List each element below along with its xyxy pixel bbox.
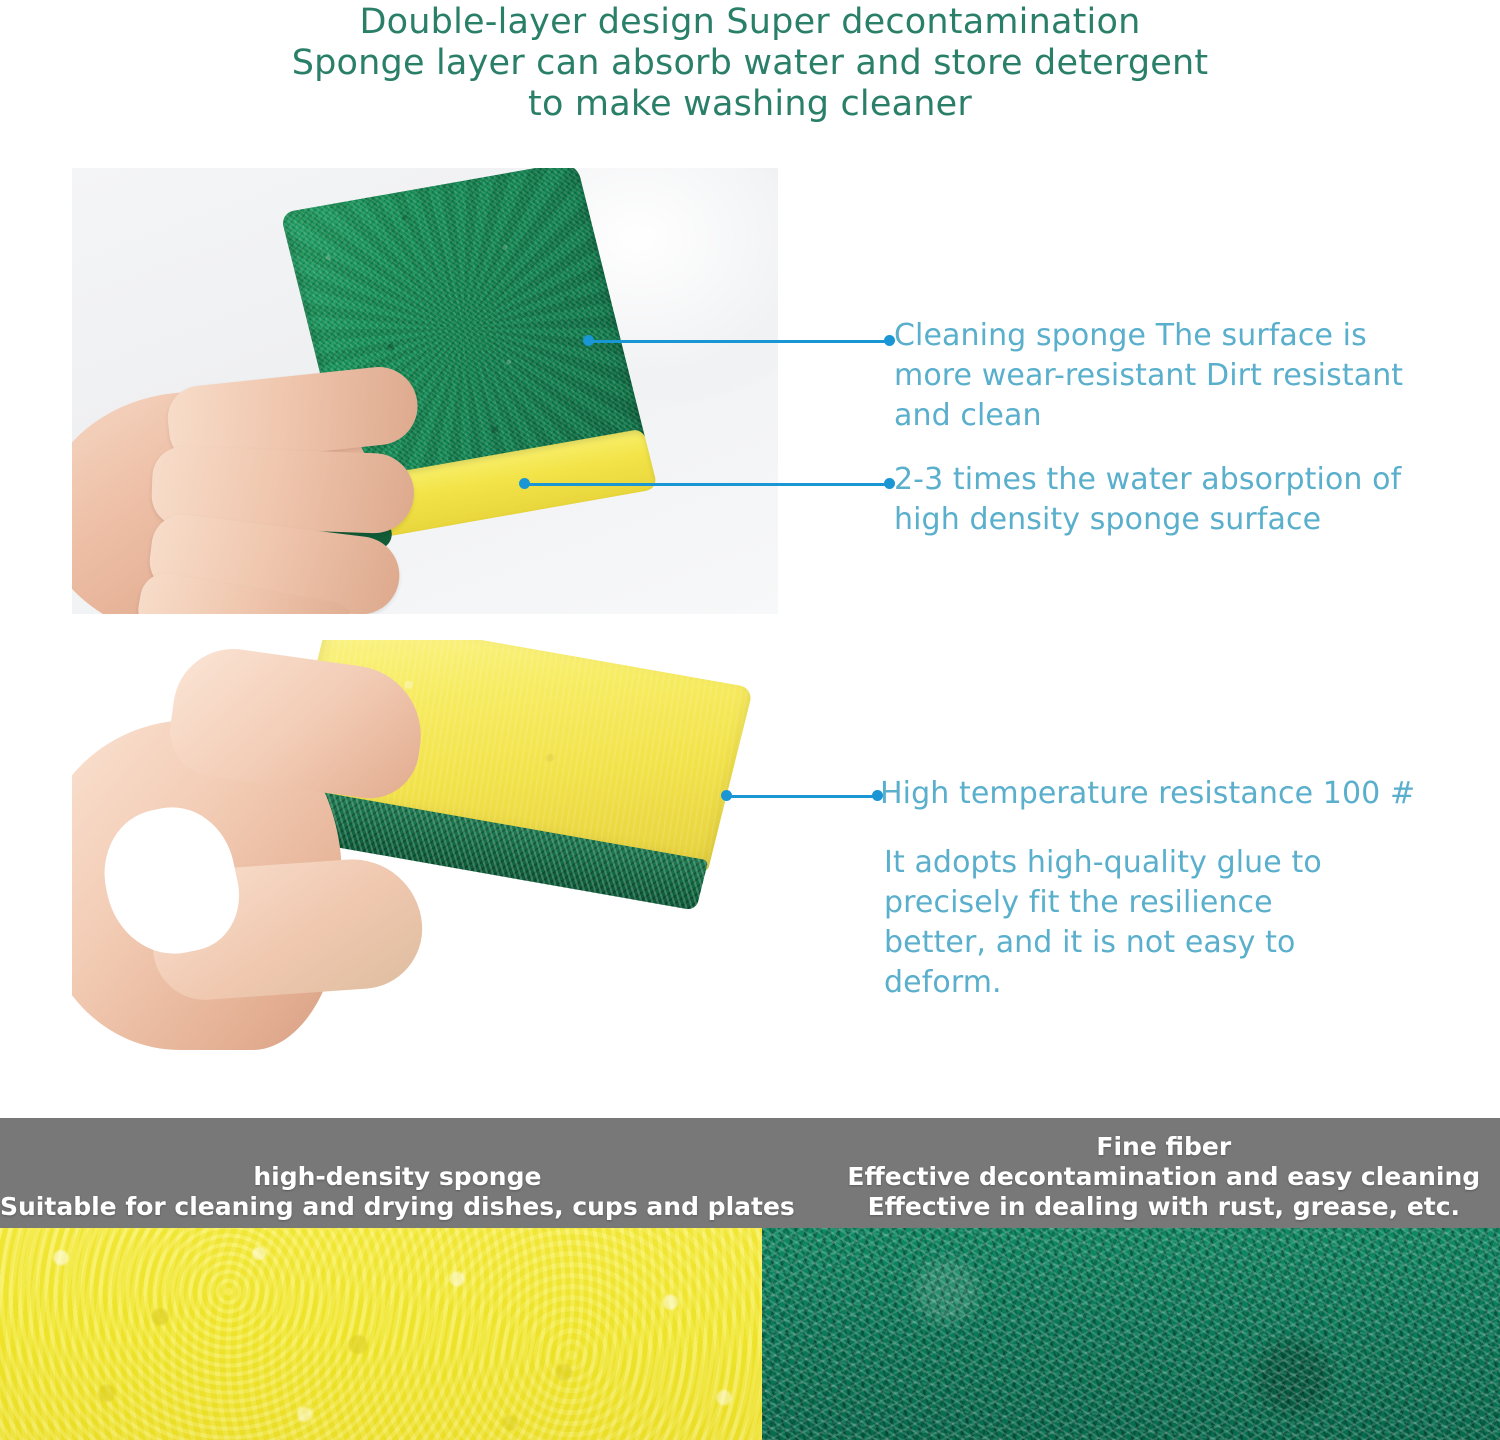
comparison-caption-bar: high-density sponge Suitable for cleanin… — [0, 1118, 1500, 1228]
green-fiber-texture — [762, 1228, 1500, 1440]
callout-high-temperature: High temperature resistance 100 # — [880, 774, 1415, 814]
caption-detail: Suitable for cleaning and drying dishes,… — [0, 1192, 795, 1222]
leader-line-cleaning-sponge — [584, 333, 894, 349]
leader-line-segment — [722, 795, 882, 798]
callout-line: precisely fit the resilience — [884, 883, 1322, 923]
title-line-1: Double-layer design Super decontaminatio… — [0, 2, 1500, 43]
hand-pinching-sponge — [72, 650, 462, 1080]
caption-title: high-density sponge — [253, 1162, 541, 1192]
callout-glue-resilience: It adopts high-quality glue to precisely… — [884, 843, 1322, 1003]
hand-gripping-sponge — [72, 338, 512, 614]
caption-detail: Effective decontamination and easy clean… — [847, 1162, 1480, 1192]
callout-line: high density sponge surface — [894, 500, 1401, 540]
product-photo-yellow-side — [72, 640, 778, 1080]
caption-detail: Effective in dealing with rust, grease, … — [868, 1192, 1461, 1222]
caption-left-sponge: high-density sponge Suitable for cleanin… — [0, 1118, 795, 1228]
callout-line: Cleaning sponge The surface is — [894, 316, 1403, 356]
page-title: Double-layer design Super decontaminatio… — [0, 0, 1500, 125]
callout-line: It adopts high-quality glue to — [884, 843, 1322, 883]
leader-line-water-absorption — [520, 476, 894, 492]
leader-line-segment — [584, 340, 894, 343]
callout-line: High temperature resistance 100 # — [880, 774, 1415, 814]
caption-right-fiber: Fine fiber Effective decontamination and… — [795, 1118, 1500, 1228]
leader-line-high-temperature — [722, 788, 882, 804]
yellow-sponge-texture — [0, 1228, 762, 1440]
callout-cleaning-sponge: Cleaning sponge The surface is more wear… — [894, 316, 1403, 436]
callout-water-absorption: 2-3 times the water absorption of high d… — [894, 460, 1401, 540]
callout-line: deform. — [884, 963, 1322, 1003]
title-line-3: to make washing cleaner — [0, 84, 1500, 125]
leader-line-segment — [520, 483, 894, 486]
callout-line: better, and it is not easy to — [884, 923, 1322, 963]
product-photo-green-side — [72, 168, 778, 614]
callout-line: more wear-resistant Dirt resistant — [894, 356, 1403, 396]
material-texture-swatches — [0, 1228, 1500, 1440]
callout-line: 2-3 times the water absorption of — [894, 460, 1401, 500]
title-line-2: Sponge layer can absorb water and store … — [0, 43, 1500, 84]
callout-line: and clean — [894, 396, 1403, 436]
caption-title: Fine fiber — [1096, 1132, 1231, 1162]
